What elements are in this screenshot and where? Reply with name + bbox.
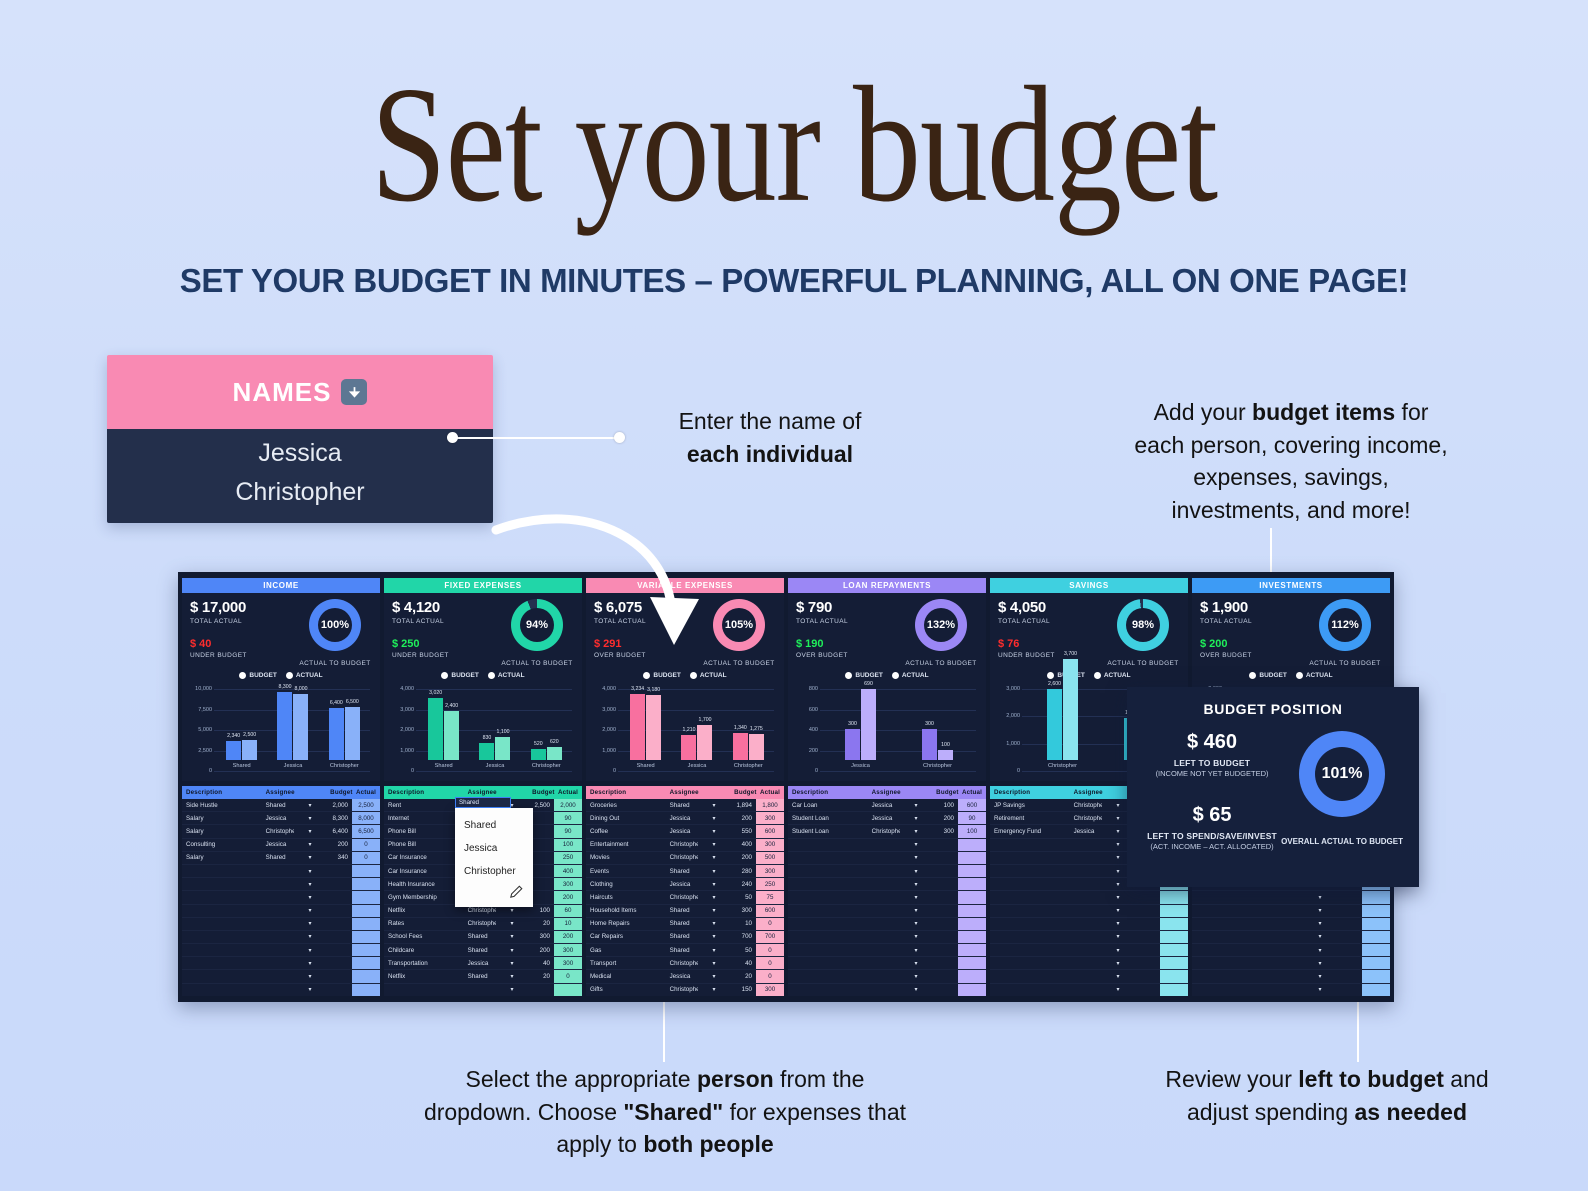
cell-description[interactable] — [1192, 970, 1272, 983]
table-row[interactable]: Gas Shared ▾ 50 0 — [586, 944, 784, 957]
cell-budget[interactable]: 200 — [326, 838, 352, 851]
cell-description[interactable]: Rent — [384, 799, 464, 812]
cell-assignee[interactable]: Shared — [666, 799, 698, 812]
cell-description[interactable] — [182, 983, 262, 996]
cell-assignee[interactable] — [868, 838, 900, 851]
table-row[interactable]: ▾ — [182, 904, 380, 917]
cell-description[interactable] — [1192, 904, 1272, 917]
table-row[interactable]: ▾ — [788, 957, 986, 970]
cell-assignee[interactable] — [1070, 957, 1102, 970]
cell-description[interactable] — [990, 970, 1070, 983]
cell-description[interactable]: Student Loan — [788, 825, 868, 838]
cell-description[interactable] — [788, 917, 868, 930]
cell-budget[interactable] — [1336, 930, 1362, 943]
cell-assignee[interactable]: Shared — [464, 930, 496, 943]
chevron-down-icon[interactable]: ▾ — [1102, 904, 1134, 917]
cell-description[interactable]: Internet — [384, 812, 464, 825]
chevron-down-icon[interactable]: ▾ — [294, 957, 326, 970]
cell-assignee[interactable] — [1070, 983, 1102, 996]
chevron-down-icon[interactable]: ▾ — [900, 983, 932, 996]
cell-assignee[interactable]: Christopher — [666, 983, 698, 996]
cell-assignee[interactable] — [1272, 930, 1304, 943]
cell-budget[interactable]: 6,400 — [326, 825, 352, 838]
chevron-down-icon[interactable]: ▾ — [900, 851, 932, 864]
cell-assignee[interactable] — [1070, 864, 1102, 877]
cell-description[interactable] — [182, 891, 262, 904]
table-row[interactable]: ▾ — [990, 917, 1188, 930]
cell-budget[interactable]: 40 — [528, 957, 554, 970]
table-row[interactable]: ▾ — [384, 983, 582, 996]
cell-assignee[interactable]: Jessica — [464, 957, 496, 970]
cell-assignee[interactable] — [262, 957, 294, 970]
cell-description[interactable]: Gym Membership — [384, 891, 464, 904]
table-row[interactable]: ▾ — [182, 930, 380, 943]
chevron-down-icon[interactable]: ▾ — [900, 812, 932, 825]
cell-assignee[interactable]: Shared — [666, 917, 698, 930]
cell-budget[interactable] — [1134, 904, 1160, 917]
chevron-down-icon[interactable]: ▾ — [294, 917, 326, 930]
cell-budget[interactable] — [1134, 970, 1160, 983]
cell-budget[interactable] — [326, 917, 352, 930]
chevron-down-icon[interactable]: ▾ — [1304, 930, 1336, 943]
chevron-down-icon[interactable]: ▾ — [698, 917, 730, 930]
chevron-down-icon[interactable]: ▾ — [294, 799, 326, 812]
cell-description[interactable]: Emergency Fund — [990, 825, 1070, 838]
cell-assignee[interactable]: Christopher — [868, 825, 900, 838]
table-row[interactable]: Dining Out Jessica ▾ 200 300 — [586, 812, 784, 825]
table-row[interactable]: Events Shared ▾ 280 300 — [586, 864, 784, 877]
cell-description[interactable] — [788, 878, 868, 891]
cell-description[interactable] — [788, 957, 868, 970]
table-row[interactable]: Transport Christopher ▾ 40 0 — [586, 957, 784, 970]
cell-budget[interactable] — [932, 983, 958, 996]
chevron-down-icon[interactable]: ▾ — [900, 864, 932, 877]
cell-description[interactable]: Salary — [182, 825, 262, 838]
chevron-down-icon[interactable]: ▾ — [294, 878, 326, 891]
cell-description[interactable] — [182, 917, 262, 930]
table-row[interactable]: ▾ — [990, 944, 1188, 957]
assignee-dropdown-anchor[interactable]: Shared — [455, 797, 511, 808]
cell-budget[interactable]: 300 — [528, 930, 554, 943]
table-row[interactable]: Salary Christopher ▾ 6,400 6,500 — [182, 825, 380, 838]
cell-description[interactable]: Retirement — [990, 812, 1070, 825]
chevron-down-icon[interactable]: ▾ — [900, 957, 932, 970]
chevron-down-icon[interactable]: ▾ — [698, 812, 730, 825]
cell-assignee[interactable]: Shared — [666, 930, 698, 943]
cell-budget[interactable] — [1134, 891, 1160, 904]
chevron-down-icon[interactable]: ▾ — [900, 838, 932, 851]
table-row[interactable]: Netflix Shared ▾ 20 0 — [384, 970, 582, 983]
cell-budget[interactable] — [932, 917, 958, 930]
chevron-down-icon[interactable]: ▾ — [496, 983, 528, 996]
cell-budget[interactable] — [326, 878, 352, 891]
cell-budget[interactable] — [1134, 944, 1160, 957]
cell-description[interactable] — [990, 838, 1070, 851]
cell-budget[interactable]: 1,894 — [730, 799, 756, 812]
down-arrow-icon[interactable] — [341, 379, 367, 405]
cell-description[interactable]: Haircuts — [586, 891, 666, 904]
cell-budget[interactable] — [1336, 891, 1362, 904]
table-row[interactable]: Clothing Jessica ▾ 240 250 — [586, 878, 784, 891]
cell-budget[interactable]: 550 — [730, 825, 756, 838]
cell-description[interactable]: Clothing — [586, 878, 666, 891]
cell-assignee[interactable]: Shared — [666, 864, 698, 877]
cell-description[interactable] — [990, 917, 1070, 930]
cell-description[interactable]: Side Hustle — [182, 799, 262, 812]
chevron-down-icon[interactable]: ▾ — [900, 825, 932, 838]
table-row[interactable]: ▾ — [182, 957, 380, 970]
cell-assignee[interactable] — [262, 864, 294, 877]
cell-description[interactable]: Phone Bill — [384, 825, 464, 838]
table-row[interactable]: ▾ — [1192, 917, 1390, 930]
cell-assignee[interactable] — [262, 904, 294, 917]
cell-budget[interactable] — [1336, 957, 1362, 970]
table-row[interactable]: Home Repairs Shared ▾ 10 0 — [586, 917, 784, 930]
chevron-down-icon[interactable]: ▾ — [496, 944, 528, 957]
cell-description[interactable] — [788, 930, 868, 943]
table-row[interactable]: School Fees Shared ▾ 300 200 — [384, 930, 582, 943]
table-row[interactable]: Student Loan Christopher ▾ 300 100 — [788, 825, 986, 838]
cell-assignee[interactable]: Christopher — [1070, 812, 1102, 825]
table-row[interactable]: Household Items Shared ▾ 300 600 — [586, 904, 784, 917]
cell-budget[interactable]: 300 — [932, 825, 958, 838]
cell-assignee[interactable]: Jessica — [666, 878, 698, 891]
cell-budget[interactable] — [932, 891, 958, 904]
chevron-down-icon[interactable]: ▾ — [900, 944, 932, 957]
chevron-down-icon[interactable]: ▾ — [294, 944, 326, 957]
cell-assignee[interactable]: Shared — [262, 799, 294, 812]
cell-budget[interactable] — [1134, 957, 1160, 970]
cell-description[interactable] — [1192, 983, 1272, 996]
dropdown-option-shared[interactable]: Shared — [455, 814, 533, 837]
chevron-down-icon[interactable]: ▾ — [900, 917, 932, 930]
assignee-dropdown-menu[interactable]: Shared Jessica Christopher — [455, 808, 533, 907]
cell-description[interactable]: Entertainment — [586, 838, 666, 851]
cell-assignee[interactable]: Shared — [262, 851, 294, 864]
cell-budget[interactable] — [1336, 904, 1362, 917]
cell-budget[interactable] — [932, 970, 958, 983]
cell-description[interactable]: Phone Bill — [384, 838, 464, 851]
cell-description[interactable] — [182, 930, 262, 943]
cell-assignee[interactable]: Shared — [666, 944, 698, 957]
chevron-down-icon[interactable]: ▾ — [294, 891, 326, 904]
cell-assignee[interactable] — [1272, 891, 1304, 904]
cell-description[interactable] — [1192, 917, 1272, 930]
table-row[interactable]: ▾ — [182, 917, 380, 930]
cell-assignee[interactable] — [868, 957, 900, 970]
dropdown-option-jessica[interactable]: Jessica — [455, 837, 533, 860]
cell-budget[interactable] — [326, 864, 352, 877]
cell-description[interactable] — [1192, 891, 1272, 904]
cell-assignee[interactable] — [868, 983, 900, 996]
table-row[interactable]: Student Loan Jessica ▾ 200 90 — [788, 812, 986, 825]
cell-description[interactable] — [788, 983, 868, 996]
cell-description[interactable] — [1192, 957, 1272, 970]
chevron-down-icon[interactable]: ▾ — [900, 904, 932, 917]
cell-assignee[interactable] — [1070, 917, 1102, 930]
chevron-down-icon[interactable]: ▾ — [900, 799, 932, 812]
cell-assignee[interactable] — [1272, 970, 1304, 983]
table-row[interactable]: Movies Christopher ▾ 200 500 — [586, 851, 784, 864]
cell-budget[interactable] — [326, 930, 352, 943]
table-row[interactable]: Salary Shared ▾ 340 0 — [182, 851, 380, 864]
chevron-down-icon[interactable]: ▾ — [698, 930, 730, 943]
cell-assignee[interactable] — [1272, 957, 1304, 970]
cell-budget[interactable]: 20 — [730, 970, 756, 983]
table-row[interactable]: ▾ — [788, 917, 986, 930]
table-row[interactable]: ▾ — [788, 930, 986, 943]
cell-description[interactable]: School Fees — [384, 930, 464, 943]
cell-budget[interactable] — [326, 904, 352, 917]
cell-assignee[interactable] — [262, 891, 294, 904]
chevron-down-icon[interactable]: ▾ — [1102, 930, 1134, 943]
cell-budget[interactable]: 8,300 — [326, 812, 352, 825]
cell-description[interactable] — [182, 904, 262, 917]
table-row[interactable]: ▾ — [990, 970, 1188, 983]
table-row[interactable]: ▾ — [788, 944, 986, 957]
table-row[interactable]: ▾ — [1192, 904, 1390, 917]
chevron-down-icon[interactable]: ▾ — [294, 851, 326, 864]
cell-assignee[interactable] — [262, 917, 294, 930]
cell-assignee[interactable] — [262, 878, 294, 891]
cell-budget[interactable] — [326, 944, 352, 957]
cell-budget[interactable] — [932, 957, 958, 970]
chevron-down-icon[interactable]: ▾ — [900, 878, 932, 891]
cell-budget[interactable]: 200 — [528, 944, 554, 957]
cell-assignee[interactable]: Jessica — [666, 825, 698, 838]
table-row[interactable]: ▾ — [788, 904, 986, 917]
cell-description[interactable]: Car Insurance — [384, 851, 464, 864]
cell-assignee[interactable] — [868, 930, 900, 943]
cell-assignee[interactable] — [868, 878, 900, 891]
cell-description[interactable] — [990, 864, 1070, 877]
cell-assignee[interactable] — [464, 983, 496, 996]
cell-description[interactable]: Health Insurance — [384, 878, 464, 891]
cell-budget[interactable]: 300 — [730, 904, 756, 917]
cell-description[interactable]: Dining Out — [586, 812, 666, 825]
cell-description[interactable] — [1192, 930, 1272, 943]
chevron-down-icon[interactable]: ▾ — [698, 799, 730, 812]
cell-budget[interactable]: 100 — [932, 799, 958, 812]
cell-assignee[interactable]: Jessica — [262, 812, 294, 825]
chevron-down-icon[interactable]: ▾ — [1102, 891, 1134, 904]
table-row[interactable]: ▾ — [182, 944, 380, 957]
cell-assignee[interactable] — [1070, 851, 1102, 864]
table-row[interactable]: ▾ — [182, 864, 380, 877]
cell-assignee[interactable]: Jessica — [868, 799, 900, 812]
table-row[interactable]: ▾ — [182, 983, 380, 996]
chevron-down-icon[interactable]: ▾ — [294, 930, 326, 943]
cell-description[interactable]: Transportation — [384, 957, 464, 970]
chevron-down-icon[interactable]: ▾ — [496, 957, 528, 970]
table-row[interactable]: ▾ — [1192, 983, 1390, 996]
table-row[interactable]: ▾ — [788, 851, 986, 864]
cell-assignee[interactable] — [868, 891, 900, 904]
cell-assignee[interactable] — [1070, 891, 1102, 904]
chevron-down-icon[interactable]: ▾ — [1102, 944, 1134, 957]
cell-description[interactable] — [788, 904, 868, 917]
table-row[interactable]: ▾ — [788, 891, 986, 904]
table-row[interactable]: Transportation Jessica ▾ 40 300 — [384, 957, 582, 970]
cell-assignee[interactable]: Jessica — [262, 838, 294, 851]
table-row[interactable]: ▾ — [990, 983, 1188, 996]
table-row[interactable]: ▾ — [990, 891, 1188, 904]
cell-description[interactable] — [990, 878, 1070, 891]
cell-description[interactable]: Car Insurance — [384, 864, 464, 877]
cell-description[interactable]: Netflix — [384, 970, 464, 983]
cell-assignee[interactable] — [1272, 917, 1304, 930]
cell-budget[interactable] — [932, 838, 958, 851]
cell-budget[interactable]: 400 — [730, 838, 756, 851]
cell-budget[interactable]: 700 — [730, 930, 756, 943]
cell-assignee[interactable] — [1272, 944, 1304, 957]
cell-description[interactable]: Movies — [586, 851, 666, 864]
cell-description[interactable] — [1192, 944, 1272, 957]
cell-description[interactable]: Events — [586, 864, 666, 877]
chevron-down-icon[interactable]: ▾ — [698, 878, 730, 891]
cell-assignee[interactable] — [1070, 838, 1102, 851]
cell-budget[interactable] — [1134, 917, 1160, 930]
cell-budget[interactable]: 50 — [730, 944, 756, 957]
cell-description[interactable] — [788, 838, 868, 851]
cell-description[interactable] — [990, 957, 1070, 970]
cell-budget[interactable] — [326, 957, 352, 970]
chevron-down-icon[interactable]: ▾ — [698, 970, 730, 983]
cell-description[interactable]: Salary — [182, 812, 262, 825]
cell-description[interactable] — [182, 944, 262, 957]
cell-description[interactable]: Rates — [384, 917, 464, 930]
cell-description[interactable]: Car Repairs — [586, 930, 666, 943]
table-row[interactable]: ▾ — [1192, 944, 1390, 957]
dropdown-option-christopher[interactable]: Christopher — [455, 860, 533, 883]
table-row[interactable]: Side Hustle Shared ▾ 2,000 2,500 — [182, 799, 380, 812]
cell-budget[interactable]: 340 — [326, 851, 352, 864]
cell-description[interactable] — [990, 944, 1070, 957]
cell-budget[interactable] — [326, 970, 352, 983]
cell-budget[interactable] — [326, 891, 352, 904]
chevron-down-icon[interactable]: ▾ — [294, 812, 326, 825]
chevron-down-icon[interactable]: ▾ — [1102, 957, 1134, 970]
cell-budget[interactable]: 200 — [730, 851, 756, 864]
cell-assignee[interactable]: Christopher — [1070, 799, 1102, 812]
cell-budget[interactable]: 20 — [528, 970, 554, 983]
chevron-down-icon[interactable]: ▾ — [698, 864, 730, 877]
cell-assignee[interactable]: Jessica — [1070, 825, 1102, 838]
chevron-down-icon[interactable]: ▾ — [1304, 917, 1336, 930]
cell-assignee[interactable]: Christopher — [666, 851, 698, 864]
cell-description[interactable] — [990, 930, 1070, 943]
chevron-down-icon[interactable]: ▾ — [496, 970, 528, 983]
table-row[interactable]: Coffee Jessica ▾ 550 600 — [586, 825, 784, 838]
cell-budget[interactable] — [1336, 944, 1362, 957]
cell-budget[interactable]: 50 — [730, 891, 756, 904]
table-row[interactable]: Medical Jessica ▾ 20 0 — [586, 970, 784, 983]
cell-description[interactable]: Salary — [182, 851, 262, 864]
cell-description[interactable] — [384, 983, 464, 996]
table-row[interactable]: ▾ — [1192, 957, 1390, 970]
cell-description[interactable]: Medical — [586, 970, 666, 983]
cell-description[interactable] — [788, 864, 868, 877]
cell-description[interactable] — [788, 851, 868, 864]
cell-budget[interactable]: 280 — [730, 864, 756, 877]
cell-assignee[interactable] — [1070, 930, 1102, 943]
chevron-down-icon[interactable]: ▾ — [698, 944, 730, 957]
chevron-down-icon[interactable]: ▾ — [1102, 983, 1134, 996]
cell-assignee[interactable] — [868, 970, 900, 983]
table-row[interactable]: Car Loan Jessica ▾ 100 600 — [788, 799, 986, 812]
cell-budget[interactable] — [932, 944, 958, 957]
cell-assignee[interactable]: Shared — [464, 944, 496, 957]
cell-assignee[interactable]: Christopher — [262, 825, 294, 838]
table-row[interactable]: Haircuts Christopher ▾ 50 75 — [586, 891, 784, 904]
cell-budget[interactable] — [326, 983, 352, 996]
cell-assignee[interactable]: Shared — [464, 970, 496, 983]
chevron-down-icon[interactable]: ▾ — [294, 970, 326, 983]
cell-description[interactable]: Coffee — [586, 825, 666, 838]
chevron-down-icon[interactable]: ▾ — [1304, 904, 1336, 917]
cell-assignee[interactable]: Jessica — [666, 812, 698, 825]
cell-budget[interactable]: 20 — [528, 917, 554, 930]
chevron-down-icon[interactable]: ▾ — [1304, 957, 1336, 970]
cell-budget[interactable]: 2,000 — [326, 799, 352, 812]
cell-budget[interactable] — [932, 851, 958, 864]
cell-description[interactable]: Car Loan — [788, 799, 868, 812]
table-row[interactable]: Car Repairs Shared ▾ 700 700 — [586, 930, 784, 943]
chevron-down-icon[interactable]: ▾ — [1102, 917, 1134, 930]
cell-budget[interactable] — [1336, 983, 1362, 996]
cell-description[interactable]: Transport — [586, 957, 666, 970]
table-row[interactable]: ▾ — [788, 864, 986, 877]
chevron-down-icon[interactable]: ▾ — [294, 838, 326, 851]
table-row[interactable]: Salary Jessica ▾ 8,300 8,000 — [182, 812, 380, 825]
table-row[interactable]: ▾ — [182, 891, 380, 904]
cell-description[interactable]: Home Repairs — [586, 917, 666, 930]
cell-description[interactable] — [182, 878, 262, 891]
cell-assignee[interactable] — [1272, 983, 1304, 996]
chevron-down-icon[interactable]: ▾ — [698, 891, 730, 904]
cell-budget[interactable]: 200 — [932, 812, 958, 825]
cell-budget[interactable]: 150 — [730, 983, 756, 996]
cell-description[interactable]: Gas — [586, 944, 666, 957]
cell-budget[interactable] — [932, 864, 958, 877]
cell-assignee[interactable] — [262, 983, 294, 996]
chevron-down-icon[interactable]: ▾ — [1304, 983, 1336, 996]
cell-description[interactable]: Gifts — [586, 983, 666, 996]
cell-description[interactable] — [990, 983, 1070, 996]
cell-budget[interactable] — [932, 878, 958, 891]
cell-description[interactable]: Student Loan — [788, 812, 868, 825]
chevron-down-icon[interactable]: ▾ — [698, 983, 730, 996]
chevron-down-icon[interactable]: ▾ — [900, 891, 932, 904]
chevron-down-icon[interactable]: ▾ — [698, 904, 730, 917]
table-row[interactable]: Entertainment Christopher ▾ 400 300 — [586, 838, 784, 851]
cell-description[interactable]: Consulting — [182, 838, 262, 851]
cell-description[interactable] — [990, 891, 1070, 904]
cell-assignee[interactable] — [262, 944, 294, 957]
chevron-down-icon[interactable]: ▾ — [496, 917, 528, 930]
chevron-down-icon[interactable]: ▾ — [1102, 970, 1134, 983]
table-row[interactable]: Consulting Jessica ▾ 200 0 — [182, 838, 380, 851]
cell-assignee[interactable] — [1070, 878, 1102, 891]
cell-assignee[interactable] — [868, 917, 900, 930]
table-row[interactable]: ▾ — [788, 970, 986, 983]
cell-budget[interactable] — [932, 904, 958, 917]
table-row[interactable]: ▾ — [182, 878, 380, 891]
cell-description[interactable]: Childcare — [384, 944, 464, 957]
cell-description[interactable] — [788, 944, 868, 957]
cell-budget[interactable] — [932, 930, 958, 943]
table-row[interactable]: ▾ — [1192, 891, 1390, 904]
